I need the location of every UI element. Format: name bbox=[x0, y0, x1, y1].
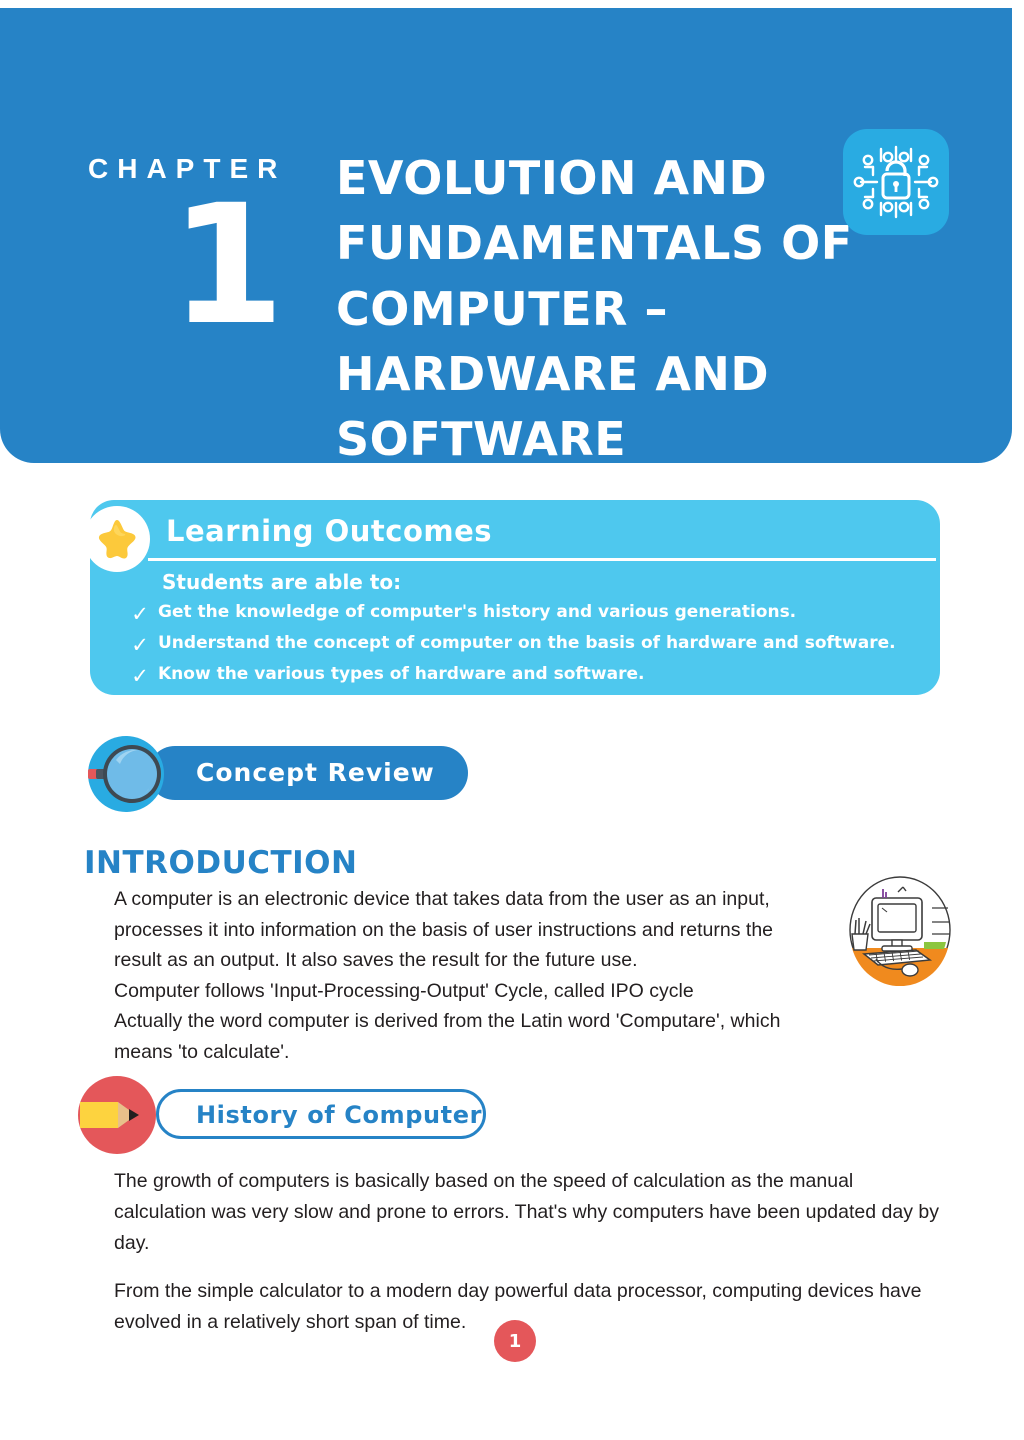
list-item: ✓ Understand the concept of computer on … bbox=[122, 634, 922, 657]
magnifying-glass-icon bbox=[88, 736, 178, 812]
outcome-text: Know the various types of hardware and s… bbox=[158, 665, 644, 685]
chapter-number: 1 bbox=[170, 183, 285, 348]
outcome-text: Get the knowledge of computer's history … bbox=[158, 603, 796, 623]
learning-outcomes-subtitle: Students are able to: bbox=[162, 570, 401, 594]
page-title: INTRODUCTION bbox=[84, 845, 357, 881]
page-number-badge: 1 bbox=[494, 1320, 536, 1362]
learning-outcomes-card: Learning Outcomes Students are able to: … bbox=[90, 500, 940, 695]
paragraph: A computer is an electronic device that … bbox=[114, 884, 814, 976]
list-item: ✓ Know the various types of hardware and… bbox=[122, 665, 922, 688]
desktop-computer-illustration bbox=[836, 874, 964, 986]
paragraph: Computer follows 'Input-Processing-Outpu… bbox=[114, 976, 814, 1007]
check-icon: ✓ bbox=[122, 603, 158, 626]
check-icon: ✓ bbox=[122, 634, 158, 657]
learning-outcomes-list: ✓ Get the knowledge of computer's histor… bbox=[122, 603, 922, 696]
history-of-computer-label: History of Computer bbox=[196, 1101, 482, 1129]
list-item: ✓ Get the knowledge of computer's histor… bbox=[122, 603, 922, 626]
chapter-header-banner: CHAPTER 1 EVOLUTION AND FUNDAMENTALS OF … bbox=[0, 8, 1012, 463]
paragraph: Actually the word computer is derived fr… bbox=[114, 1006, 814, 1067]
cyber-lock-circuit-icon bbox=[843, 129, 949, 235]
star-icon bbox=[84, 506, 150, 572]
check-icon: ✓ bbox=[122, 665, 158, 688]
concept-review-label: Concept Review bbox=[196, 758, 435, 787]
introduction-body: A computer is an electronic device that … bbox=[114, 884, 814, 1068]
chapter-title: EVOLUTION AND FUNDAMENTALS OF COMPUTER –… bbox=[336, 146, 856, 473]
learning-outcomes-title: Learning Outcomes bbox=[166, 514, 492, 548]
outcome-text: Understand the concept of computer on th… bbox=[158, 634, 896, 654]
learning-outcomes-divider bbox=[148, 558, 936, 561]
pencil-icon bbox=[78, 1076, 168, 1154]
concept-review-badge: Concept Review bbox=[88, 736, 468, 812]
paragraph: The growth of computers is basically bas… bbox=[114, 1166, 946, 1260]
history-of-computer-badge: History of Computer bbox=[76, 1076, 488, 1154]
